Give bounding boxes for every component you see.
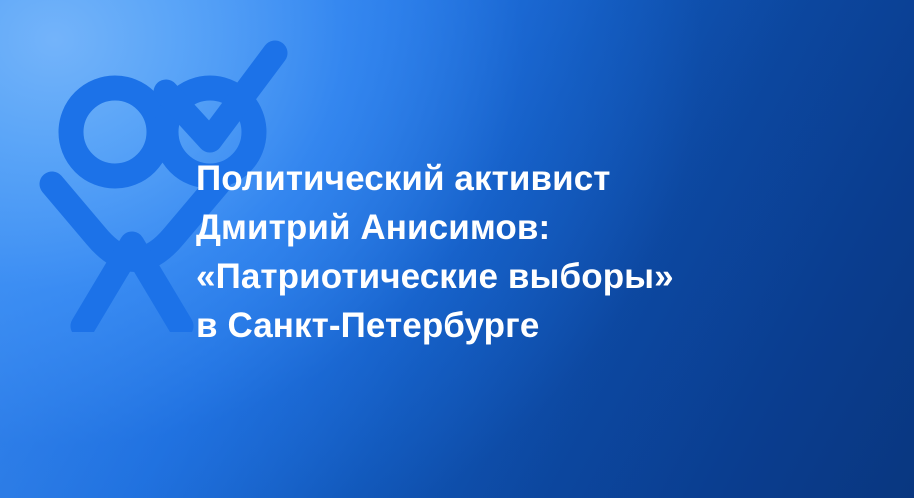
promo-banner: Политический активист Дмитрий Анисимов: …: [0, 0, 914, 498]
left-eye-ring-icon: [71, 88, 159, 176]
legs-icon: [83, 244, 181, 326]
page-title: Политический активист Дмитрий Анисимов: …: [196, 154, 856, 350]
arms-arc-icon: [52, 184, 218, 260]
checkmark-icon: [166, 53, 275, 140]
